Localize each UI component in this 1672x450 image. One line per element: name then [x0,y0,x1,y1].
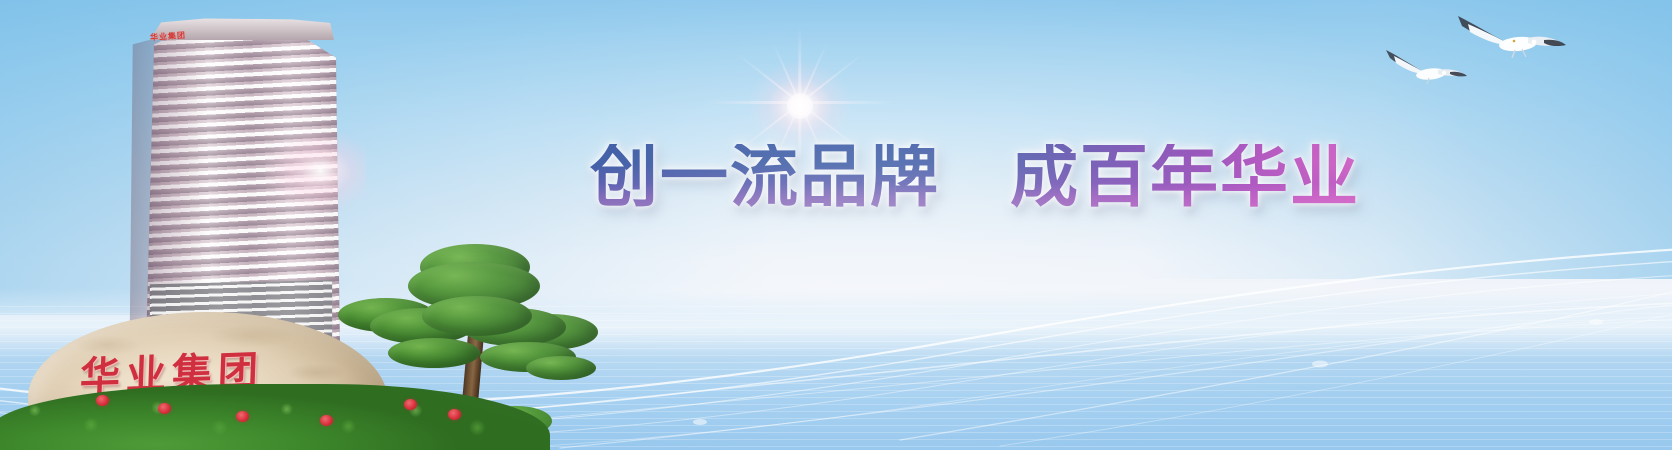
hero-banner: 华业集团 华业集团 [0,0,1672,450]
office-tower: 华业集团 [128,18,360,348]
tower-glass-glint [246,116,366,226]
tree-canopy-center [422,296,532,336]
tree-canopy-lower-left [388,338,480,368]
sun-core [787,93,813,119]
slogan-text: 创一流品牌 成百年华业 [590,133,1350,223]
seagull-right [1456,8,1568,70]
red-flower-1 [96,395,109,406]
red-flower-3 [236,411,249,422]
tree-canopy-droop-right [526,356,596,380]
red-flower-4 [320,415,333,426]
red-flower-6 [448,409,461,420]
red-flower-5 [404,399,417,410]
slogan-label: 创一流品牌 成百年华业 [590,144,1360,212]
red-flower-2 [158,403,171,414]
